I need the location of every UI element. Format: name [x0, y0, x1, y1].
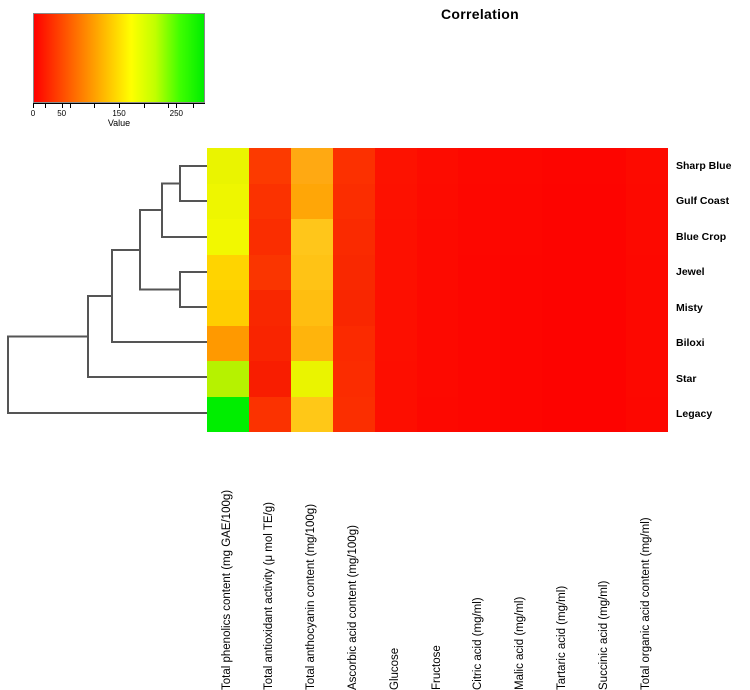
row-label: Jewel: [676, 266, 705, 278]
heatmap-cell[interactable]: [417, 219, 459, 255]
heatmap-cell[interactable]: [542, 148, 584, 184]
heatmap-cell[interactable]: [458, 290, 500, 326]
heatmap-cell[interactable]: [291, 255, 333, 291]
column-label: Glucose: [389, 648, 401, 690]
heatmap-cell[interactable]: [542, 184, 584, 220]
color-key-axis-label: Value: [33, 118, 205, 128]
heatmap-cell[interactable]: [291, 361, 333, 397]
heatmap-cell[interactable]: [333, 397, 375, 433]
heatmap-cell[interactable]: [207, 361, 249, 397]
row-label: Legacy: [676, 408, 712, 420]
row-label: Star: [676, 373, 696, 385]
color-key-tick-label: 250: [170, 109, 183, 118]
heatmap-cell[interactable]: [500, 397, 542, 433]
heatmap-cell[interactable]: [249, 219, 291, 255]
heatmap-cell[interactable]: [458, 148, 500, 184]
heatmap-cell[interactable]: [207, 148, 249, 184]
heatmap-cell[interactable]: [626, 290, 668, 326]
heatmap-cell[interactable]: [500, 184, 542, 220]
heatmap-cell[interactable]: [375, 184, 417, 220]
color-key-tick: [45, 103, 46, 108]
heatmap-cell[interactable]: [249, 397, 291, 433]
column-label: Total phenolics content (mg GAE/100g): [221, 490, 233, 690]
heatmap-cell[interactable]: [626, 361, 668, 397]
color-key: 050150250: [33, 13, 205, 103]
heatmap-cell[interactable]: [333, 361, 375, 397]
heatmap-cell[interactable]: [375, 219, 417, 255]
heatmap-cell[interactable]: [291, 397, 333, 433]
heatmap-cell[interactable]: [584, 184, 626, 220]
heatmap-cell[interactable]: [458, 326, 500, 362]
heatmap-cell[interactable]: [207, 397, 249, 433]
heatmap-cell[interactable]: [500, 219, 542, 255]
heatmap-cell[interactable]: [207, 219, 249, 255]
heatmap-cell[interactable]: [626, 397, 668, 433]
heatmap-cell[interactable]: [207, 326, 249, 362]
heatmap-cell[interactable]: [542, 397, 584, 433]
heatmap-cell[interactable]: [249, 184, 291, 220]
heatmap-cell[interactable]: [626, 255, 668, 291]
color-key-tick: [168, 103, 169, 108]
heatmap-cell[interactable]: [542, 326, 584, 362]
heatmap-cell[interactable]: [458, 397, 500, 433]
row-dendrogram: [0, 145, 208, 435]
row-label: Gulf Coast: [676, 195, 729, 207]
color-key-tick: [193, 103, 194, 108]
heatmap-grid[interactable]: [207, 148, 668, 432]
heatmap-cell[interactable]: [542, 361, 584, 397]
column-label: Total anthocyanin content (mg/100g): [305, 504, 317, 690]
heatmap-cell[interactable]: [626, 148, 668, 184]
column-label: Total organic acid content (mg/ml): [640, 517, 652, 690]
heatmap-cell[interactable]: [249, 361, 291, 397]
heatmap-cell[interactable]: [458, 361, 500, 397]
heatmap-cell[interactable]: [333, 290, 375, 326]
heatmap-cell[interactable]: [375, 326, 417, 362]
column-labels: Total phenolics content (mg GAE/100g)Tot…: [207, 436, 668, 690]
heatmap-cell[interactable]: [249, 326, 291, 362]
heatmap-cell[interactable]: [417, 148, 459, 184]
heatmap-cell[interactable]: [291, 148, 333, 184]
column-label: Ascorbic acid content (mg/100g): [347, 525, 359, 690]
heatmap-figure: Color Key 050150250 Value Correlation: [0, 0, 750, 690]
color-key-tick-label: 0: [31, 109, 35, 118]
heatmap-cell[interactable]: [375, 290, 417, 326]
color-key-tick: [94, 103, 95, 108]
heatmap-cell[interactable]: [291, 219, 333, 255]
heatmap-cell[interactable]: [626, 184, 668, 220]
color-key-tick: [70, 103, 71, 108]
heatmap-cell[interactable]: [207, 184, 249, 220]
row-label: Biloxi: [676, 337, 705, 349]
heatmap-cell[interactable]: [500, 255, 542, 291]
heatmap-cell[interactable]: [500, 326, 542, 362]
heatmap-cell[interactable]: [584, 290, 626, 326]
heatmap-cell[interactable]: [417, 184, 459, 220]
row-labels: Sharp BlueGulf CoastBlue CropJewelMistyB…: [676, 148, 750, 432]
heatmap-cell[interactable]: [291, 184, 333, 220]
heatmap-cell[interactable]: [249, 290, 291, 326]
heatmap-cell[interactable]: [333, 219, 375, 255]
color-key-tick: [176, 103, 177, 108]
row-label: Sharp Blue: [676, 160, 731, 172]
color-key-tick: [119, 103, 120, 108]
heatmap-cell[interactable]: [375, 148, 417, 184]
heatmap-cell[interactable]: [458, 219, 500, 255]
heatmap-cell[interactable]: [584, 148, 626, 184]
heatmap-cell[interactable]: [626, 219, 668, 255]
heatmap-cell[interactable]: [291, 326, 333, 362]
heatmap-cell[interactable]: [500, 290, 542, 326]
color-key-tick-label: 150: [112, 109, 125, 118]
color-key-tick: [33, 103, 34, 108]
heatmap-cell[interactable]: [584, 361, 626, 397]
chart-title: Correlation: [380, 6, 580, 22]
heatmap-cell[interactable]: [333, 148, 375, 184]
color-key-tick: [62, 103, 63, 108]
column-label: Tartaric acid (mg/ml): [556, 586, 568, 690]
heatmap-cell[interactable]: [542, 219, 584, 255]
column-label: Succinic acid (mg/ml): [598, 581, 610, 690]
color-key-tick: [144, 103, 145, 108]
column-label: Malic acid (mg/ml): [514, 597, 526, 690]
row-label: Misty: [676, 302, 703, 314]
heatmap-cell[interactable]: [500, 361, 542, 397]
color-key-tick-label: 50: [57, 109, 66, 118]
heatmap-cell[interactable]: [333, 326, 375, 362]
heatmap-cell[interactable]: [207, 255, 249, 291]
heatmap-cell[interactable]: [375, 361, 417, 397]
heatmap-cell[interactable]: [584, 219, 626, 255]
heatmap-cell[interactable]: [417, 326, 459, 362]
heatmap-cell[interactable]: [626, 326, 668, 362]
heatmap-cell[interactable]: [458, 255, 500, 291]
heatmap-cell[interactable]: [249, 148, 291, 184]
column-label: Citric acid (mg/ml): [472, 597, 484, 690]
heatmap-cell[interactable]: [542, 290, 584, 326]
heatmap-cell[interactable]: [249, 255, 291, 291]
heatmap-cell[interactable]: [207, 290, 249, 326]
heatmap-cell[interactable]: [542, 255, 584, 291]
color-key-gradient-bar: [33, 13, 205, 103]
heatmap-cell[interactable]: [417, 361, 459, 397]
heatmap-cell[interactable]: [333, 184, 375, 220]
heatmap-cell[interactable]: [584, 397, 626, 433]
heatmap-cell[interactable]: [333, 255, 375, 291]
heatmap-cell[interactable]: [417, 255, 459, 291]
heatmap-cell[interactable]: [584, 255, 626, 291]
heatmap-cell[interactable]: [500, 148, 542, 184]
heatmap-cell[interactable]: [417, 397, 459, 433]
heatmap-cell[interactable]: [417, 290, 459, 326]
row-label: Blue Crop: [676, 231, 726, 243]
heatmap-cell[interactable]: [375, 255, 417, 291]
heatmap-cell[interactable]: [458, 184, 500, 220]
heatmap-cell[interactable]: [291, 290, 333, 326]
heatmap-cell[interactable]: [375, 397, 417, 433]
heatmap-cell[interactable]: [584, 326, 626, 362]
column-label: Fructose: [431, 645, 443, 690]
column-label: Total antioxidant activity (μ mol TE/g): [263, 502, 275, 690]
